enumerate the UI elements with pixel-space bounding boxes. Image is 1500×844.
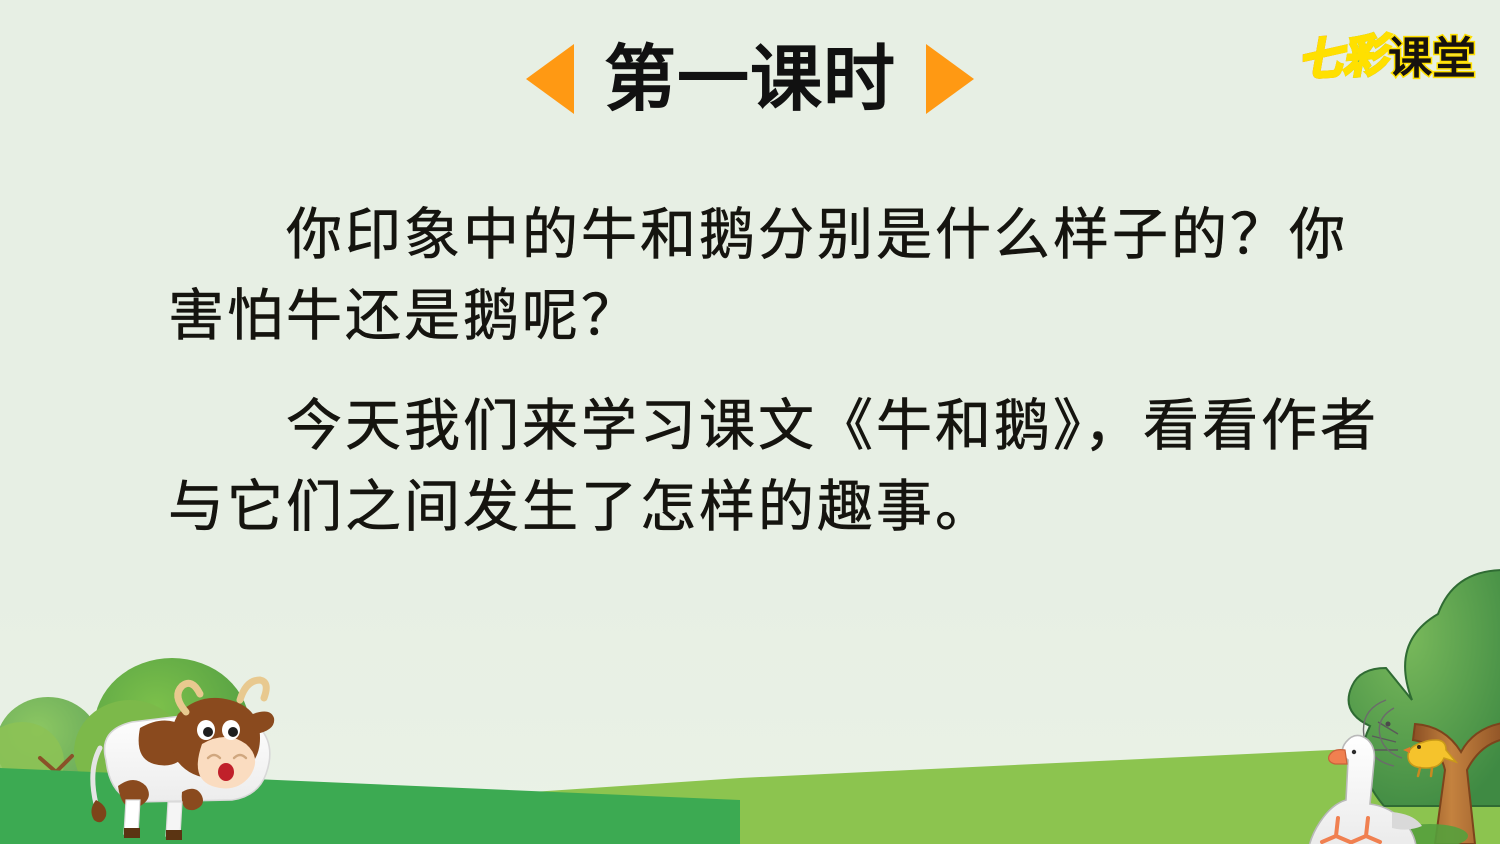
songbird: [1363, 700, 1456, 776]
brand-logo: 七彩 课堂: [1298, 22, 1476, 86]
paragraph-1: 你印象中的牛和鹅分别是什么样子的？你害怕牛还是鹅呢？: [168, 196, 1383, 357]
big-tree: [1349, 570, 1500, 844]
slide-title-bar: 第一课时: [0, 24, 1500, 134]
cow: [91, 680, 274, 840]
page-title: 第一课时: [604, 43, 896, 115]
triangle-right-icon: [926, 44, 974, 114]
brand-logo-colorful-text: 七彩: [1296, 19, 1388, 89]
paragraph-2: 今天我们来学习课文《牛和鹅》，看看作者与它们之间发生了怎样的趣事。: [168, 387, 1383, 548]
goose: [1307, 735, 1422, 844]
brand-logo-plain-text: 课堂: [1388, 22, 1476, 86]
triangle-left-icon: [526, 44, 574, 114]
slide-root: 第一课时 七彩 课堂 你印象中的牛和鹅分别是什么样子的？你害怕牛还是鹅呢？ 今天…: [0, 0, 1500, 844]
left-bushes: [0, 658, 250, 840]
grass-left: [0, 768, 740, 844]
grass-right: [0, 742, 1500, 844]
lesson-intro-text: 你印象中的牛和鹅分别是什么样子的？你害怕牛还是鹅呢？ 今天我们来学习课文《牛和鹅…: [168, 196, 1383, 557]
